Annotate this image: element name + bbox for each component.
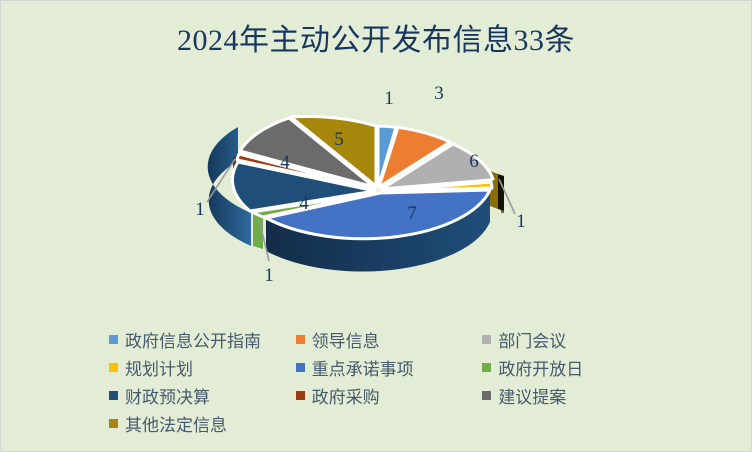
legend-item-8[interactable]: 建议提案: [482, 381, 669, 409]
data-label-5: 5: [334, 129, 344, 150]
legend-item-0[interactable]: 政府信息公开指南: [109, 325, 296, 353]
legend-swatch-icon-7: [296, 391, 305, 400]
legend-item-2[interactable]: 部门会议: [482, 325, 669, 353]
legend-swatch-icon-5: [482, 363, 491, 372]
data-label-3: 3: [434, 83, 444, 104]
legend-swatch-icon-1: [296, 335, 305, 344]
legend-label-0: 政府信息公开指南: [125, 327, 261, 352]
legend-label-6: 财政预决算: [125, 383, 210, 408]
pie-plot-area: 1 3 6 1 7 1 4 1 4 5: [1, 71, 752, 301]
legend-item-3[interactable]: 规划计划: [109, 353, 296, 381]
legend-swatch-icon-2: [482, 335, 491, 344]
pie-svg: 1 3 6 1 7 1 4 1 4 5: [1, 71, 752, 301]
legend-label-3: 规划计划: [125, 355, 193, 380]
legend-swatch-icon-0: [109, 335, 118, 344]
data-label-darkred-1: 1: [195, 199, 205, 220]
data-label-7: 7: [407, 203, 417, 224]
data-label-yellow-1: 1: [516, 211, 526, 232]
legend-item-9[interactable]: 其他法定信息: [109, 409, 296, 437]
legend-swatch-icon-3: [109, 363, 118, 372]
legend-label-5: 政府开放日: [498, 355, 583, 380]
pie-chart-figure: 2024年主动公开发布信息33条: [1, 1, 751, 451]
legend-item-1[interactable]: 领导信息: [296, 325, 483, 353]
legend-item-4[interactable]: 重点承诺事项: [296, 353, 483, 381]
data-label-green-1: 1: [264, 265, 274, 286]
legend-item-7[interactable]: 政府采购: [296, 381, 483, 409]
legend-label-1: 领导信息: [312, 327, 380, 352]
data-label-6: 6: [469, 151, 479, 172]
pie-top-surface: [232, 117, 493, 239]
legend-label-4: 重点承诺事项: [312, 355, 414, 380]
legend-item-6[interactable]: 财政预决算: [109, 381, 296, 409]
legend-label-9: 其他法定信息: [125, 411, 227, 436]
legend-label-2: 部门会议: [498, 327, 566, 352]
legend-swatch-icon-4: [296, 363, 305, 372]
data-label-1: 1: [384, 88, 394, 109]
legend-label-7: 政府采购: [312, 383, 380, 408]
legend-swatch-icon-9: [109, 419, 118, 428]
data-label-4-steelblue: 4: [299, 193, 309, 214]
chart-legend: 政府信息公开指南 领导信息 部门会议 规划计划 重点承诺事项 政府开放日 财政预…: [109, 325, 669, 437]
legend-swatch-icon-6: [109, 391, 118, 400]
data-label-4-gray: 4: [280, 152, 290, 173]
legend-item-5[interactable]: 政府开放日: [482, 353, 669, 381]
legend-swatch-icon-8: [482, 391, 491, 400]
chart-title: 2024年主动公开发布信息33条: [1, 15, 751, 59]
legend-label-8: 建议提案: [498, 383, 566, 408]
